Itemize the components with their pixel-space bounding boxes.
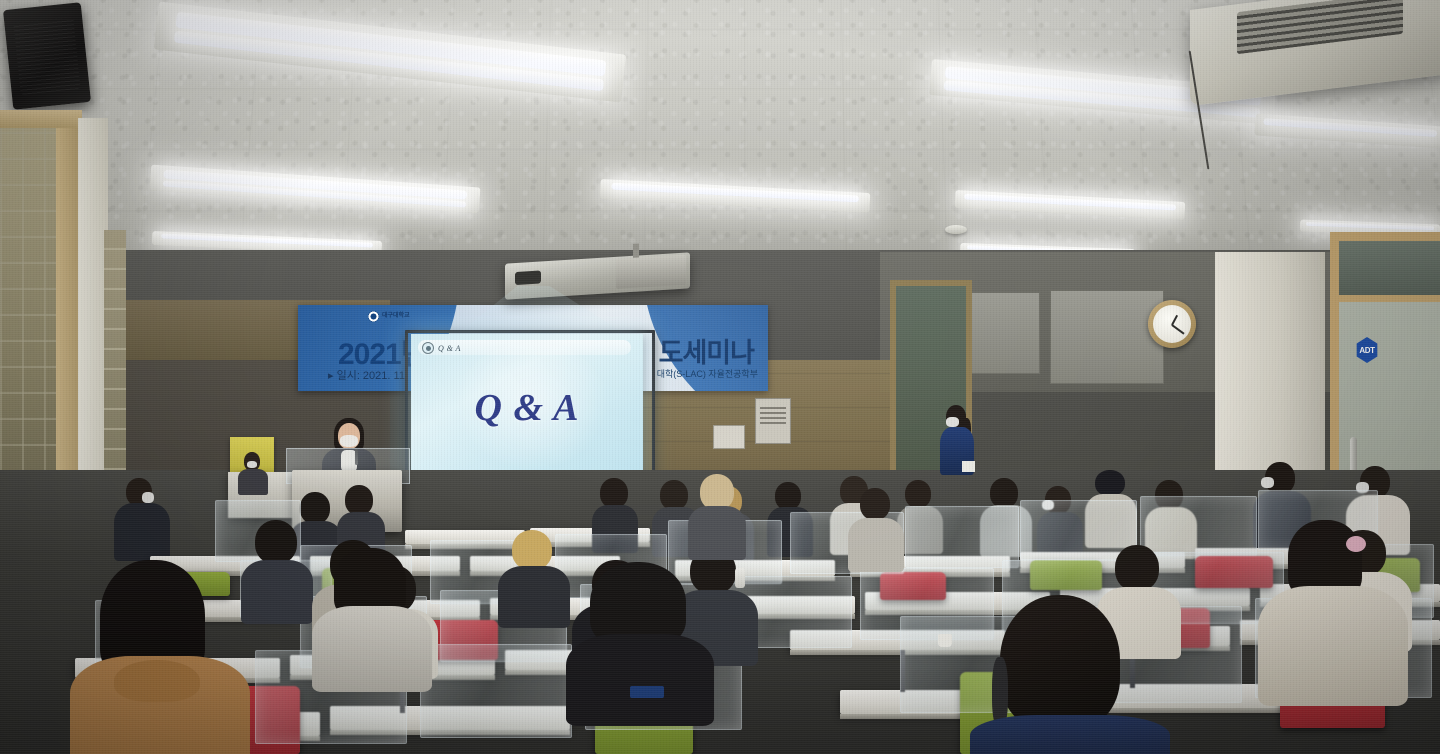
slide-headline: Q & A <box>411 386 643 430</box>
door-transom-window <box>1339 241 1440 302</box>
head-blonde <box>512 530 552 570</box>
head <box>990 478 1018 508</box>
head <box>255 520 297 564</box>
body-grey-hoodie <box>312 606 432 692</box>
wall-speaker <box>3 2 91 110</box>
head <box>600 478 628 508</box>
paper-cup <box>938 634 952 647</box>
wall-notice-poster <box>755 398 791 444</box>
banner-right-title: 도세미나 <box>659 331 754 370</box>
face-mask <box>247 461 257 468</box>
university-logo-mark <box>368 311 379 322</box>
head <box>860 488 890 520</box>
projector-mount <box>633 243 639 257</box>
standing-paper <box>962 461 975 472</box>
water-bottle <box>735 568 745 588</box>
phone-on-desk <box>630 686 664 698</box>
body <box>241 560 313 624</box>
body <box>114 503 170 561</box>
pulldown-board <box>1050 290 1164 384</box>
body <box>566 634 714 726</box>
wall-clock <box>1148 300 1196 348</box>
window-frame-wood <box>0 110 82 128</box>
presenter-face-mask <box>340 435 358 447</box>
face-mask <box>142 492 154 503</box>
head <box>700 474 734 510</box>
acrylic-covid-divider <box>905 506 1019 568</box>
wall-notice-small <box>713 425 745 449</box>
university-logo: 대구대학교 <box>368 311 410 322</box>
head <box>775 482 801 510</box>
slide-header-row: Q & A <box>422 342 461 354</box>
head <box>905 480 931 508</box>
head <box>1115 545 1159 591</box>
head <box>660 480 688 510</box>
university-logo-text: 대구대학교 <box>382 313 410 319</box>
head <box>345 485 373 515</box>
banner-right-subtitle: 대학(S-LAC) 자율전공학부 <box>657 367 758 380</box>
body <box>848 518 904 572</box>
projector-lens <box>515 270 541 285</box>
body <box>688 506 746 560</box>
lecture-hall-photo: ADT 대구대학교 2021년 ▸ 일시: 2021. 11. 11 도세미나 … <box>0 0 1440 754</box>
head <box>1000 595 1120 730</box>
projector-body <box>616 255 686 289</box>
head <box>300 492 330 524</box>
projection-screen: Q & A Q & A <box>411 334 643 482</box>
acrylic-covid-divider <box>1020 500 1137 560</box>
head-with-cap <box>1095 470 1125 496</box>
smoke-detector <box>945 225 967 234</box>
staff-body <box>238 469 268 495</box>
face-mask <box>1261 477 1274 488</box>
body-cream-coat <box>1258 586 1408 706</box>
face-mask <box>946 417 959 427</box>
hair-accessory <box>1346 536 1366 552</box>
adt-security-sticker: ADT <box>1355 337 1379 363</box>
person-circle-icon <box>422 342 434 354</box>
slide-header-label: Q & A <box>438 344 461 353</box>
acrylic-covid-divider <box>1140 496 1257 556</box>
body <box>498 566 570 628</box>
acrylic-covid-divider <box>420 644 572 738</box>
body <box>970 715 1170 754</box>
hood <box>114 660 200 702</box>
